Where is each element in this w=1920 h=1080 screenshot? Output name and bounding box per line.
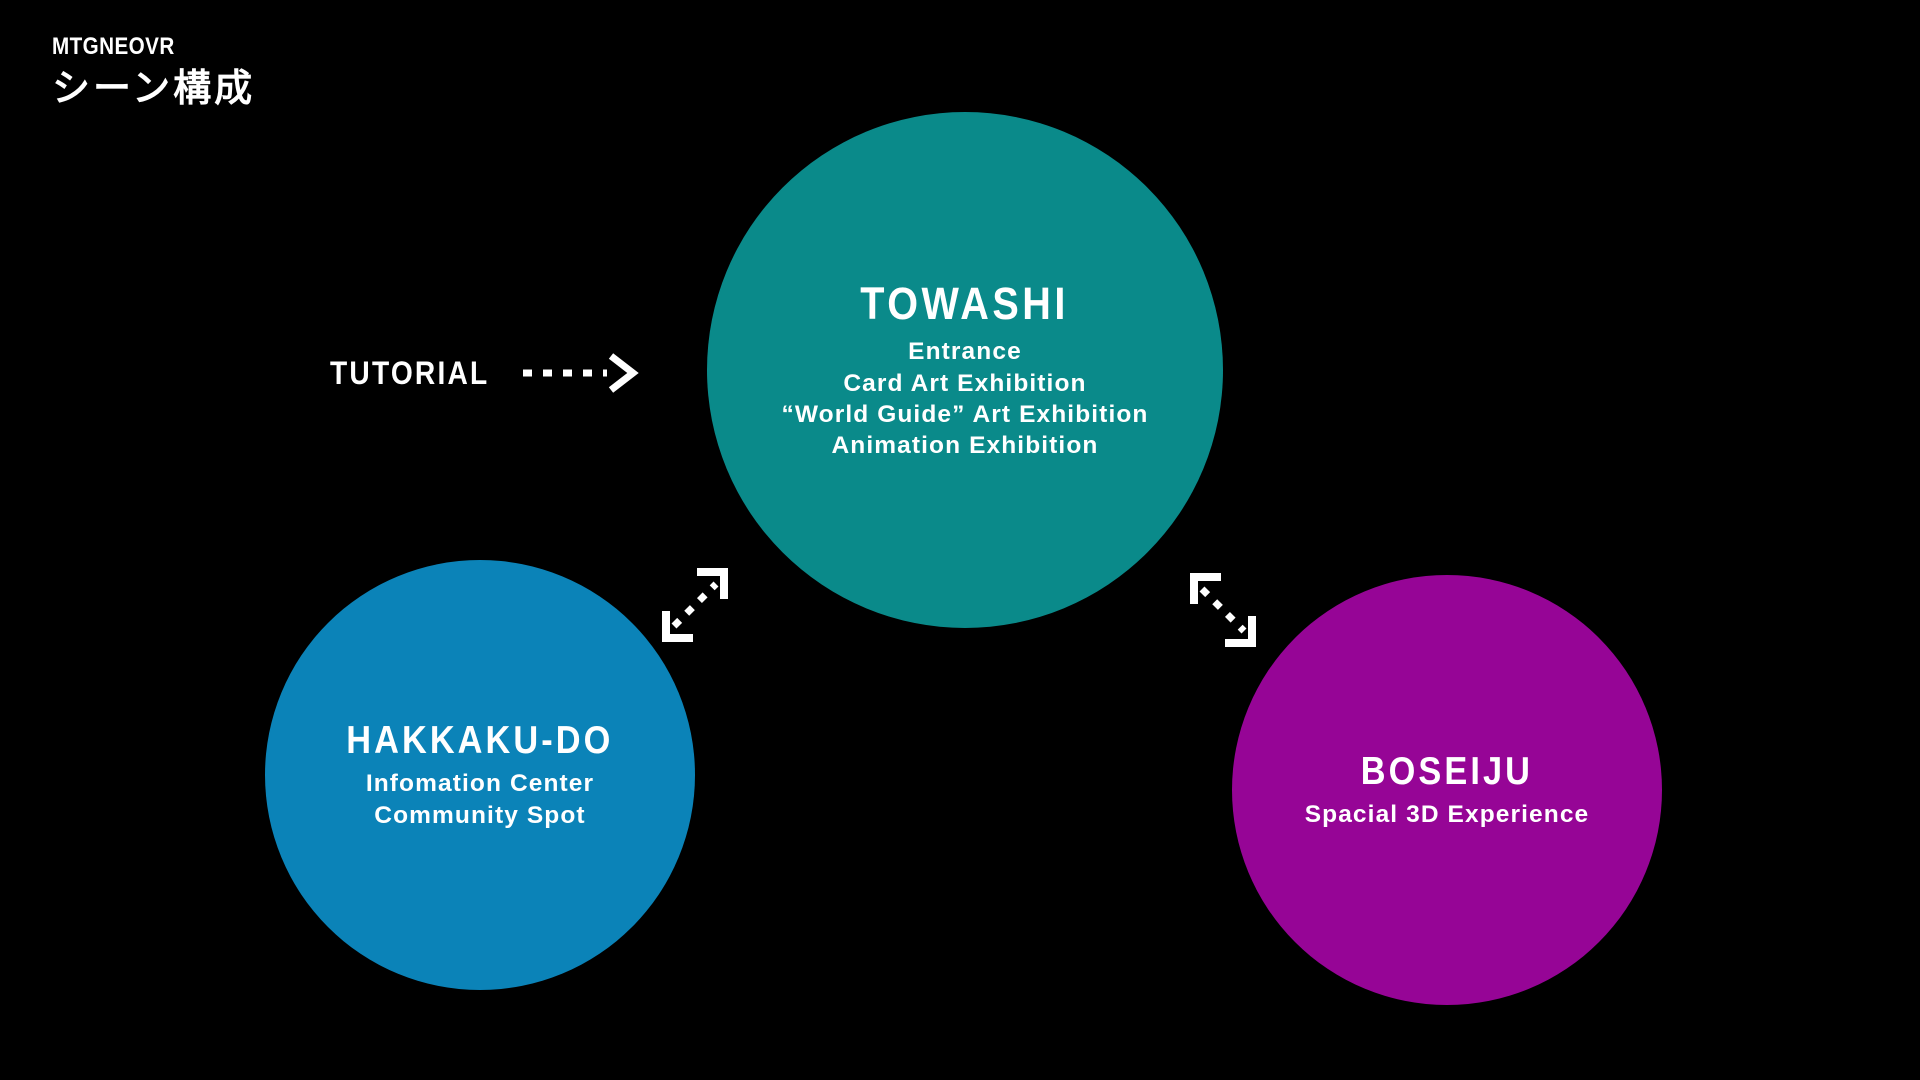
connector-tutorial: TUTORIAL bbox=[330, 352, 641, 394]
node-towashi-line: Card Art Exhibition bbox=[843, 368, 1086, 399]
node-boseiju-line: Spacial 3D Experience bbox=[1305, 799, 1590, 830]
dashed-double-arrow-diagonal-icon bbox=[650, 560, 740, 650]
node-boseiju-title: BOSEIJU bbox=[1361, 750, 1533, 794]
slide-header: MTGNEOVR シーン構成 bbox=[52, 34, 255, 110]
tutorial-label: TUTORIAL bbox=[330, 355, 489, 392]
node-towashi[interactable]: TOWASHI Entrance Card Art Exhibition “Wo… bbox=[707, 112, 1223, 628]
node-towashi-line: Entrance bbox=[908, 336, 1022, 367]
node-towashi-line: Animation Exhibition bbox=[831, 430, 1098, 461]
slide-canvas: MTGNEOVR シーン構成 TUTORIAL TOWASHI Entrance… bbox=[0, 0, 1920, 1080]
dashed-double-arrow-diagonal-icon bbox=[1178, 565, 1268, 655]
node-boseiju-lines: Spacial 3D Experience bbox=[1305, 799, 1590, 830]
node-hakkakudo-line: Community Spot bbox=[374, 800, 585, 831]
node-towashi-lines: Entrance Card Art Exhibition “World Guid… bbox=[782, 336, 1149, 461]
node-hakkakudo[interactable]: HAKKAKU-DO Infomation Center Community S… bbox=[265, 560, 695, 990]
node-hakkakudo-title: HAKKAKU-DO bbox=[346, 719, 613, 763]
page-title: シーン構成 bbox=[52, 68, 255, 110]
node-towashi-line: “World Guide” Art Exhibition bbox=[782, 399, 1149, 430]
brand-label: MTGNEOVR bbox=[52, 34, 227, 59]
node-hakkakudo-line: Infomation Center bbox=[366, 768, 594, 799]
node-boseiju[interactable]: BOSEIJU Spacial 3D Experience bbox=[1232, 575, 1662, 1005]
dashed-arrow-right-icon bbox=[521, 352, 641, 394]
node-towashi-title: TOWASHI bbox=[861, 278, 1070, 330]
node-hakkakudo-lines: Infomation Center Community Spot bbox=[366, 768, 594, 831]
